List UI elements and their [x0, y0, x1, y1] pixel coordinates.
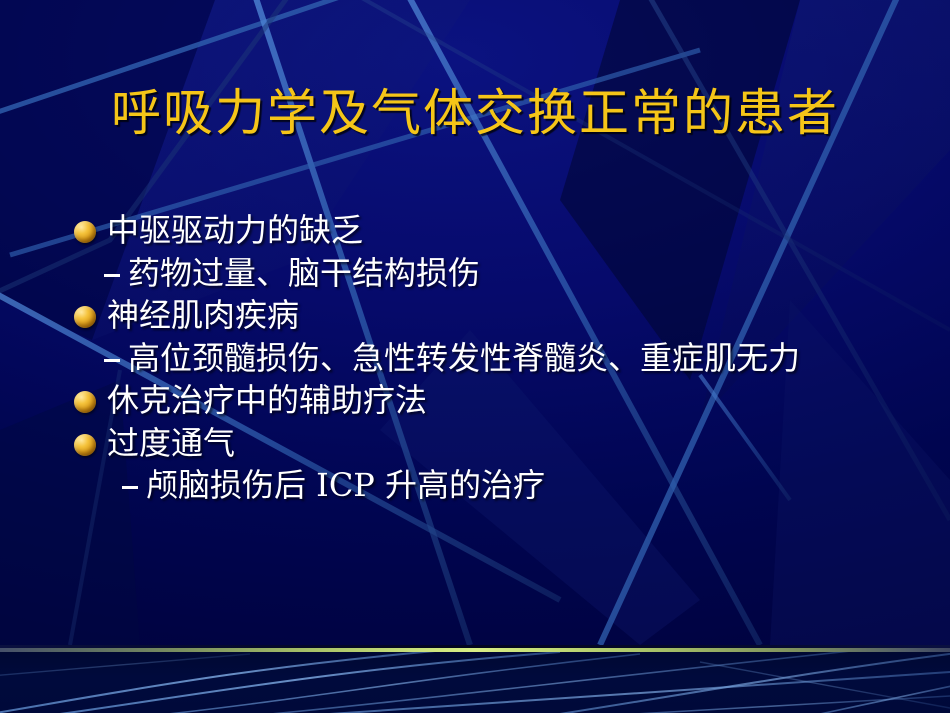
presentation-slide: 呼吸力学及气体交换正常的患者 中驱驱动力的缺乏 药物过量、脑干结构损伤 神经肌肉… — [0, 0, 950, 713]
list-item: 休克治疗中的辅助疗法 — [74, 379, 874, 422]
slide-title: 呼吸力学及气体交换正常的患者 — [0, 86, 950, 141]
gold-sphere-bullet-icon — [74, 391, 96, 413]
slide-body: 中驱驱动力的缺乏 药物过量、脑干结构损伤 神经肌肉疾病 高位颈髓损伤、急性转发性… — [74, 209, 874, 507]
gold-sphere-bullet-icon — [74, 306, 96, 328]
list-item: 中驱驱动力的缺乏 — [74, 209, 874, 252]
dash-bullet-icon — [104, 359, 120, 362]
list-item-label: 神经肌肉疾病 — [107, 294, 874, 337]
dash-bullet-icon — [122, 486, 138, 489]
list-item: 颅脑损伤后 ICP 升高的治疗 — [122, 464, 874, 507]
slide-footer-band — [0, 652, 950, 713]
list-item: 过度通气 — [74, 422, 874, 465]
slide-separator — [0, 645, 950, 652]
list-item-label: 过度通气 — [107, 422, 874, 465]
list-item-label: 中驱驱动力的缺乏 — [107, 209, 874, 252]
list-item-label: 药物过量、脑干结构损伤 — [126, 252, 874, 295]
list-item-label: 颅脑损伤后 ICP 升高的治疗 — [144, 464, 874, 507]
list-item: 药物过量、脑干结构损伤 — [104, 252, 874, 295]
list-item-label: 高位颈髓损伤、急性转发性脊髓炎、重症肌无力 — [126, 337, 874, 380]
list-item-label: 休克治疗中的辅助疗法 — [107, 379, 874, 422]
gold-sphere-bullet-icon — [74, 434, 96, 456]
footer-decoration — [0, 652, 950, 713]
list-item: 高位颈髓损伤、急性转发性脊髓炎、重症肌无力 — [104, 337, 874, 380]
list-item: 神经肌肉疾病 — [74, 294, 874, 337]
gold-sphere-bullet-icon — [74, 221, 96, 243]
dash-bullet-icon — [104, 274, 120, 277]
